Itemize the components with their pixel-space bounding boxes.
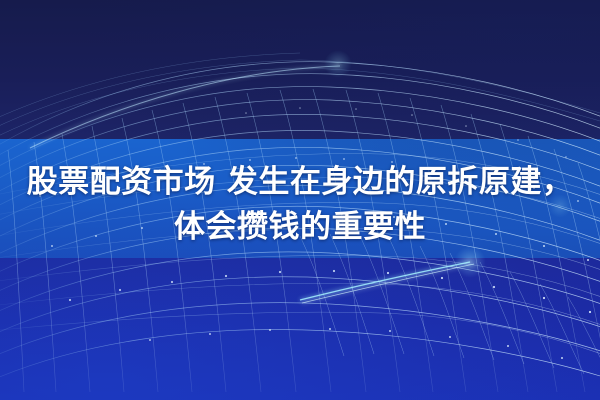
headline-text: 股票配资市场 发生在身边的原拆原建，体会攒钱的重要性 (0, 160, 600, 250)
banner-graphic: 股票配资市场 发生在身边的原拆原建，体会攒钱的重要性 (0, 0, 600, 400)
